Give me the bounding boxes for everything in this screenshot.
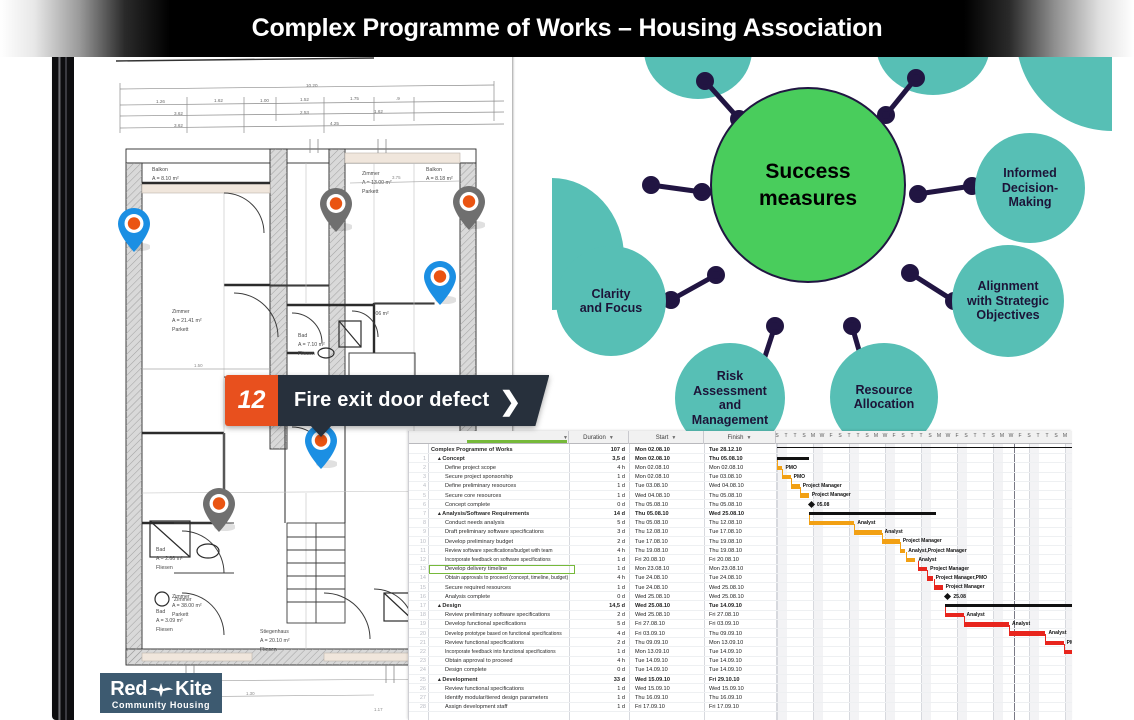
finish-date-cell[interactable]: Mon 23.08.10 (709, 566, 743, 572)
svg-text:A = 3.09 m²: A = 3.09 m² (156, 618, 183, 624)
svg-text:A = 2.66 m²: A = 2.66 m² (156, 556, 183, 562)
defect-pin-2[interactable] (320, 187, 352, 233)
task-bar[interactable] (1064, 650, 1072, 655)
defect-pin-4[interactable] (424, 260, 456, 306)
duration-cell[interactable]: 4 h (591, 465, 625, 471)
svg-text:Fliesen: Fliesen (156, 565, 173, 571)
task-bar[interactable] (809, 521, 855, 526)
duration-cell[interactable]: 1 d (591, 557, 625, 563)
task-name-cell[interactable]: Obtain approval to proceed (445, 658, 512, 664)
task-name-cell[interactable]: ▴ Design (438, 603, 461, 609)
start-date-cell[interactable]: Wed 25.08.10 (635, 594, 670, 600)
task-name-cell[interactable]: Develop functional specifications (445, 621, 526, 627)
duration-cell[interactable]: 1 d (591, 566, 625, 572)
task-link (1064, 644, 1065, 652)
start-date-cell[interactable]: Mon 02.08.10 (635, 474, 669, 480)
defect-pin-6[interactable] (203, 487, 235, 533)
notification-pointer (310, 425, 332, 437)
row-number: 14 (409, 575, 428, 581)
bubble-resource-allocation[interactable]: ResourceAllocation (830, 343, 938, 443)
defect-pin-1[interactable] (118, 207, 150, 253)
finish-date-cell[interactable]: Thu 16.09.10 (709, 695, 742, 701)
duration-cell[interactable]: 3,5 d (591, 456, 625, 462)
finish-date-cell[interactable]: Tue 17.08.10 (709, 529, 742, 535)
task-name-cell[interactable]: ▴ Concept (438, 456, 465, 462)
svg-text:1.50: 1.50 (194, 363, 203, 368)
duration-cell[interactable]: 5 d (591, 621, 625, 627)
svg-text:Bad: Bad (156, 609, 165, 615)
notification-message: Fire exit door defect (294, 389, 489, 412)
bubble-label: InformedDecision-Making (1002, 166, 1058, 210)
task-name-cell[interactable]: Review preliminary software specificatio… (445, 612, 550, 618)
bar-resource-label: PMO (794, 474, 805, 480)
bubble-label: RiskAssessmentandManagement (692, 369, 768, 427)
task-link (854, 524, 855, 532)
bar-resource-label: Analyst (857, 520, 875, 526)
svg-text:Parkett: Parkett (362, 189, 379, 195)
task-bar[interactable] (1009, 631, 1045, 636)
logo-word-red: Red (110, 678, 147, 701)
bubble-label: Alignmentwith StrategicObjectives (967, 279, 1049, 323)
device-bezel-inner (65, 53, 67, 720)
svg-text:Zimmer: Zimmer (362, 171, 380, 177)
finish-date-cell[interactable]: Fri 17.09.10 (709, 704, 739, 710)
task-bar[interactable] (964, 622, 1010, 627)
task-bar[interactable] (918, 567, 927, 572)
task-link (900, 542, 901, 550)
svg-text:A = 38.00 m²: A = 38.00 m² (172, 603, 202, 609)
task-link (927, 570, 928, 578)
task-bar[interactable] (882, 539, 900, 544)
row-number: 19 (409, 621, 428, 627)
task-link (945, 607, 946, 615)
duration-cell[interactable]: 4 h (591, 658, 625, 664)
start-date-cell[interactable]: Fri 03.09.10 (635, 631, 665, 637)
col-header-start[interactable]: Start ▼ (629, 431, 704, 444)
task-name-cell[interactable]: Secure core resources (445, 493, 501, 499)
duration-cell[interactable]: 107 d (591, 447, 625, 453)
start-date-cell[interactable]: Mon 23.08.10 (635, 566, 669, 572)
start-date-cell[interactable]: Fri 17.09.10 (635, 704, 665, 710)
svg-text:1.75: 1.75 (350, 96, 359, 101)
duration-cell[interactable]: 0 d (591, 502, 625, 508)
column-selection-indicator (467, 440, 567, 443)
core-bubble-label: Successmeasures (759, 158, 857, 213)
duration-cell[interactable]: 1 d (591, 649, 625, 655)
red-kite-logo: Red Kite Community Housing (100, 673, 222, 713)
duration-cell[interactable]: 1 d (591, 474, 625, 480)
bar-resource-label: PMO (1067, 640, 1072, 646)
device-bezel-highlight (58, 53, 61, 720)
duration-cell[interactable]: 2 d (591, 640, 625, 646)
task-name-cell[interactable]: Draft preliminary software specification… (445, 529, 544, 535)
core-bubble-success-measures[interactable]: Successmeasures (710, 87, 906, 283)
svg-text:3.62: 3.62 (174, 111, 183, 116)
finish-date-cell[interactable]: Thu 05.08.10 (709, 502, 742, 508)
logo-word-kite: Kite (175, 678, 212, 701)
finish-date-cell[interactable]: Tue 28.12.10 (709, 447, 742, 453)
duration-cell[interactable]: 0 d (591, 594, 625, 600)
finish-date-cell[interactable]: Fri 03.09.10 (709, 621, 739, 627)
svg-text:2.53: 2.53 (300, 110, 309, 115)
kite-bird-icon (148, 681, 174, 698)
bar-resource-label: Analyst (1012, 621, 1030, 627)
bubble-clarity-and-focus[interactable]: Clarityand Focus (556, 246, 666, 356)
duration-cell[interactable]: 0 d (591, 667, 625, 673)
bar-resource-label: Analyst (885, 529, 903, 535)
bubble-alignment-strategic-objectives[interactable]: Alignmentwith StrategicObjectives (952, 245, 1064, 357)
bar-resource-label: 25.08 (953, 594, 966, 600)
col-label: Finish (728, 435, 744, 441)
bar-resource-label: Project Manager,PMO (936, 575, 987, 581)
row-number: 15 (409, 585, 428, 591)
filter-icon[interactable]: ▼ (671, 435, 676, 441)
bar-resource-label: Analyst (1048, 630, 1066, 636)
svg-text:1.17: 1.17 (374, 707, 383, 712)
svg-text:Bad: Bad (156, 547, 165, 553)
start-date-cell[interactable]: Thu 05.08.10 (635, 520, 668, 526)
start-date-cell[interactable]: Wed 04.08.10 (635, 493, 670, 499)
row-number: 8 (409, 520, 428, 526)
filter-icon[interactable]: ▼ (747, 435, 752, 441)
row-number: 1 (409, 456, 428, 462)
task-name-cell[interactable]: Incorporate feedback on software specifi… (445, 557, 551, 563)
row-number: 17 (409, 603, 428, 609)
task-name-cell[interactable]: Review software specifications/budget wi… (445, 548, 553, 554)
task-bar[interactable] (782, 475, 791, 480)
finish-date-cell[interactable]: Fri 20.08.10 (709, 557, 739, 563)
task-link (964, 616, 965, 624)
task-name-cell[interactable]: Develop prototype based on functional sp… (445, 631, 562, 637)
col-header-finish[interactable]: Finish ▼ (704, 431, 776, 444)
task-bar[interactable] (945, 613, 963, 618)
slide-canvas: 10.20 1.261.62 1.001.52 1.75.9 3.622.53 … (0, 0, 1134, 720)
duration-cell[interactable]: 5 d (591, 520, 625, 526)
svg-text:4.25: 4.25 (330, 121, 339, 126)
task-link (906, 552, 907, 560)
svg-text:3.62: 3.62 (174, 123, 183, 128)
notification-count-badge: 12 (225, 375, 278, 426)
task-link (800, 487, 801, 495)
task-link (809, 515, 810, 523)
row-number: 7 (409, 511, 428, 517)
start-date-cell[interactable]: Wed 15.09.10 (635, 677, 670, 683)
svg-text:Fliesen: Fliesen (260, 647, 277, 653)
finish-date-cell[interactable]: Thu 12.08.10 (709, 520, 742, 526)
start-date-cell[interactable]: Mon 02.08.10 (635, 456, 670, 462)
svg-text:.06 m²: .06 m² (374, 311, 389, 317)
bar-resource-label: Analyst,Project Manager (908, 548, 966, 554)
task-name-cell[interactable]: ▴ Analysis/Software Requirements (438, 511, 529, 517)
finish-date-cell[interactable]: Tue 14.09.10 (709, 649, 742, 655)
start-date-cell[interactable]: Wed 15.09.10 (635, 686, 670, 692)
finish-date-cell[interactable]: Tue 14.09.10 (709, 603, 742, 609)
logo-wordmark: Red Kite (110, 678, 211, 701)
task-link (782, 469, 783, 477)
task-name-cell[interactable]: Analysis complete (445, 594, 490, 600)
task-link (882, 533, 883, 541)
finish-date-cell[interactable]: Fri 27.08.10 (709, 612, 739, 618)
task-name-cell[interactable]: Review functional specifications (445, 686, 524, 692)
svg-text:Parkett: Parkett (172, 612, 189, 618)
row-number: 26 (409, 686, 428, 692)
svg-text:Balkon: Balkon (152, 167, 168, 173)
finish-date-cell[interactable]: Thu 19.08.10 (709, 548, 742, 554)
duration-cell[interactable]: 3 d (591, 529, 625, 535)
svg-text:1.26: 1.26 (156, 99, 165, 104)
notification-body[interactable]: Fire exit door defect ❯ (278, 375, 549, 426)
task-name-cell[interactable]: Incorporate feedback into functional spe… (445, 649, 556, 655)
finish-date-cell[interactable]: Fri 29.10.10 (709, 677, 739, 683)
project-summary-bar (777, 447, 1072, 449)
table-row[interactable] (409, 675, 1072, 684)
col-label: Start (656, 435, 669, 441)
task-link (1045, 634, 1046, 642)
start-date-cell[interactable]: Mon 02.08.10 (635, 447, 670, 453)
task-name-cell[interactable]: Complex Programme of Works (431, 447, 513, 453)
duration-cell[interactable]: 1 d (591, 686, 625, 692)
duration-cell[interactable]: 14 d (591, 511, 625, 517)
row-number: 12 (409, 557, 428, 563)
summary-bar[interactable] (809, 512, 936, 515)
task-bar[interactable] (854, 530, 881, 535)
bubble-label: ResourceAllocation (854, 383, 914, 412)
bar-resource-label: Project Manager (803, 483, 842, 489)
summary-bar[interactable] (945, 604, 1072, 607)
task-name-cell[interactable]: Concept complete (445, 502, 490, 508)
duration-cell[interactable]: 33 d (591, 677, 625, 683)
duration-cell[interactable]: 14,5 d (591, 603, 625, 609)
filter-icon[interactable]: ▼ (609, 435, 614, 441)
finish-date-cell[interactable]: Wed 25.08.10 (709, 594, 744, 600)
duration-cell[interactable]: 4 h (591, 548, 625, 554)
finish-date-cell[interactable]: Wed 25.08.10 (709, 585, 744, 591)
svg-text:A = 20.10 m²: A = 20.10 m² (260, 638, 290, 644)
finish-date-cell[interactable]: Tue 14.09.10 (709, 667, 742, 673)
task-link (918, 561, 919, 569)
start-date-cell[interactable]: Thu 05.08.10 (635, 511, 669, 517)
start-date-cell[interactable]: Fri 27.08.10 (635, 621, 665, 627)
start-date-cell[interactable]: Wed 25.08.10 (635, 603, 670, 609)
finish-date-cell[interactable]: Wed 15.09.10 (709, 686, 744, 692)
finish-date-cell[interactable]: Thu 05.08.10 (709, 493, 742, 499)
start-date-cell[interactable]: Mon 02.08.10 (635, 465, 669, 471)
svg-text:Stiegenhaus: Stiegenhaus (260, 629, 289, 635)
svg-text:1.62: 1.62 (214, 98, 223, 103)
task-name-cell[interactable]: Obtain approvals to proceed (concept, ti… (445, 575, 568, 581)
duration-cell[interactable]: 2 d (591, 539, 625, 545)
col-header-duration[interactable]: Duration ▼ (569, 431, 629, 444)
task-bar[interactable] (800, 493, 809, 498)
bubble-informed-decision-making[interactable]: InformedDecision-Making (975, 133, 1085, 243)
task-link (791, 478, 792, 486)
task-name-cell[interactable]: Define preliminary resources (445, 483, 516, 489)
timescale-tick: M (1060, 433, 1070, 439)
finish-date-cell[interactable]: Thu 05.08.10 (709, 456, 743, 462)
chevron-right-icon[interactable]: ❯ (499, 388, 521, 414)
task-name-cell[interactable]: Review functional specifications (445, 640, 524, 646)
row-number: 23 (409, 658, 428, 664)
row-number: 11 (409, 548, 428, 554)
finish-date-cell[interactable]: Wed 25.08.10 (709, 511, 744, 517)
svg-text:1.52: 1.52 (300, 97, 309, 102)
task-name-cell[interactable]: Conduct needs analysis (445, 520, 504, 526)
svg-text:A = 8.10 m²: A = 8.10 m² (152, 176, 179, 182)
svg-text:3.75: 3.75 (392, 175, 401, 180)
bubble-risk-assessment-management[interactable]: RiskAssessmentandManagement (675, 343, 785, 443)
table-row[interactable] (409, 703, 1072, 712)
task-name-cell[interactable]: ▴ Development (438, 677, 478, 683)
row-number: 3 (409, 474, 428, 480)
svg-text:Fliesen: Fliesen (298, 351, 315, 357)
col-label: Duration (583, 435, 606, 441)
finish-date-cell[interactable]: Tue 03.08.10 (709, 474, 742, 480)
finish-date-cell[interactable]: Thu 19.08.10 (709, 539, 742, 545)
finish-date-cell[interactable]: Tue 24.08.10 (709, 575, 742, 581)
task-bar[interactable] (791, 484, 800, 489)
start-date-cell[interactable]: Wed 25.08.10 (635, 612, 670, 618)
duration-cell[interactable]: 1 d (591, 483, 625, 489)
finish-date-cell[interactable]: Mon 13.09.10 (709, 640, 743, 646)
svg-text:Balkon: Balkon (426, 167, 442, 173)
duration-cell[interactable]: 2 d (591, 612, 625, 618)
start-date-cell[interactable]: Fri 20.08.10 (635, 557, 665, 563)
start-date-cell[interactable]: Tue 24.08.10 (635, 585, 668, 591)
svg-text:Zimmer: Zimmer (172, 309, 190, 315)
task-name-cell[interactable]: Design complete (445, 667, 487, 673)
row-number: 18 (409, 612, 428, 618)
task-name-cell[interactable]: Define project scope (445, 465, 496, 471)
row-number: 5 (409, 493, 428, 499)
row-number: 4 (409, 483, 428, 489)
finish-date-cell[interactable]: Thu 09.09.10 (709, 631, 742, 637)
bar-resource-label: PMO (785, 465, 796, 471)
task-name-cell[interactable]: Secure project sponsorship (445, 474, 513, 480)
row-number: 2 (409, 465, 428, 471)
bar-resource-label: Project Manager (812, 492, 851, 498)
row-number: 9 (409, 529, 428, 535)
start-date-cell[interactable]: Thu 19.08.10 (635, 548, 668, 554)
svg-text:A = 21.41 m²: A = 21.41 m² (172, 318, 202, 324)
svg-text:Bad: Bad (298, 333, 307, 339)
row-number: 22 (409, 649, 428, 655)
row-number: 6 (409, 502, 428, 508)
start-date-cell[interactable]: Thu 09.09.10 (635, 640, 668, 646)
finish-date-cell[interactable]: Wed 04.08.10 (709, 483, 744, 489)
row-number: 16 (409, 594, 428, 600)
svg-text:10.20: 10.20 (306, 83, 318, 88)
duration-cell[interactable]: 4 h (591, 575, 625, 581)
bar-resource-label: Project Manager (946, 584, 985, 590)
svg-text:A = 7.10 m²: A = 7.10 m² (298, 342, 325, 348)
row-number: 27 (409, 695, 428, 701)
defect-pin-3[interactable] (453, 185, 485, 231)
bar-resource-label: Project Manager (930, 566, 969, 572)
start-date-cell[interactable]: Tue 24.08.10 (635, 575, 668, 581)
logo-tagline: Community Housing (112, 700, 210, 710)
row-number: 24 (409, 667, 428, 673)
start-date-cell[interactable]: Tue 14.09.10 (635, 667, 668, 673)
bar-resource-label: Analyst (918, 557, 936, 563)
svg-text:1.00: 1.00 (260, 98, 269, 103)
task-link (777, 460, 778, 468)
summary-bar[interactable] (777, 457, 809, 460)
svg-text:Zimmer: Zimmer (172, 594, 190, 600)
svg-text:Fliesen: Fliesen (156, 627, 173, 633)
row-number: 20 (409, 631, 428, 637)
success-measures-diagram: Successmeasures InformedDecision-Making … (540, 53, 1134, 443)
svg-text:Parkett: Parkett (172, 327, 189, 333)
duration-cell[interactable]: 1 d (591, 493, 625, 499)
task-link (1009, 625, 1010, 633)
svg-text:1.62: 1.62 (374, 109, 383, 114)
finish-date-cell[interactable]: Mon 02.08.10 (709, 465, 743, 471)
start-date-cell[interactable]: Tue 17.08.10 (635, 539, 668, 545)
start-date-cell[interactable]: Mon 13.09.10 (635, 649, 669, 655)
duration-cell[interactable]: 1 d (591, 704, 625, 710)
row-number: 10 (409, 539, 428, 545)
row-number: 13 (409, 566, 428, 572)
start-date-cell[interactable]: Tue 14.09.10 (635, 658, 668, 664)
task-bar[interactable] (934, 585, 943, 590)
slide-title-banner: Complex Programme of Works – Housing Ass… (0, 0, 1134, 57)
start-date-cell[interactable]: Thu 05.08.10 (635, 502, 668, 508)
finish-date-cell[interactable]: Tue 14.09.10 (709, 658, 742, 664)
start-date-cell[interactable]: Tue 03.08.10 (635, 483, 668, 489)
start-date-cell[interactable]: Thu 12.08.10 (635, 529, 668, 535)
bubble-label: Clarityand Focus (580, 287, 643, 316)
bar-resource-label: Analyst (967, 612, 985, 618)
start-date-cell[interactable]: Thu 16.09.10 (635, 695, 668, 701)
task-bar[interactable] (1045, 641, 1063, 646)
svg-text:1.30: 1.30 (246, 691, 255, 696)
row-number: 21 (409, 640, 428, 646)
duration-cell[interactable]: 1 d (591, 585, 625, 591)
task-bar[interactable] (906, 558, 915, 563)
task-name-cell[interactable]: Develop delivery timeline (445, 566, 507, 572)
svg-text:.9: .9 (396, 96, 400, 101)
task-name-cell[interactable]: Assign development staff (445, 704, 507, 710)
task-name-cell[interactable]: Develop preliminary budget (445, 539, 513, 545)
row-number: 28 (409, 704, 428, 710)
duration-cell[interactable]: 4 d (591, 631, 625, 637)
task-name-cell[interactable]: Identify modular/tiered design parameter… (445, 695, 548, 701)
task-link (934, 579, 935, 587)
defect-notification-banner[interactable]: 12 Fire exit door defect ❯ (225, 375, 549, 426)
bar-resource-label: Project Manager (903, 538, 942, 544)
row-number: 25 (409, 677, 428, 683)
duration-cell[interactable]: 1 d (591, 695, 625, 701)
task-name-cell[interactable]: Secure required resources (445, 585, 511, 591)
page-title: Complex Programme of Works – Housing Ass… (0, 0, 1134, 57)
bar-resource-label: 05.08 (817, 502, 830, 508)
ms-project-gantt-panel[interactable]: ▼ Duration ▼ Start ▼ Finish ▼ STTSMWFSTT… (408, 431, 1072, 720)
